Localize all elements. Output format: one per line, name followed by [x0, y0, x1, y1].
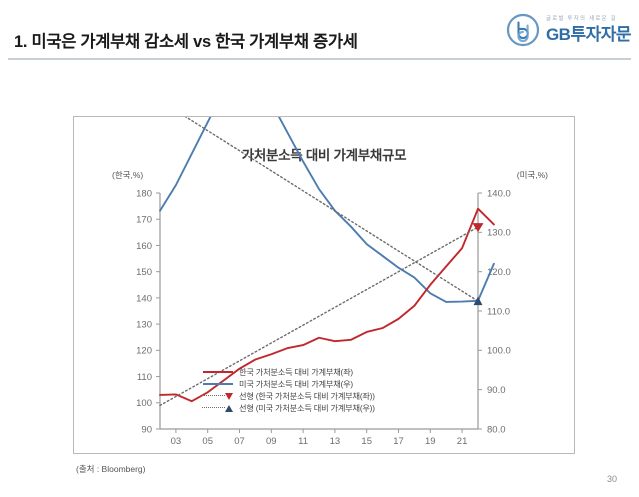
svg-text:110: 110 — [137, 372, 152, 383]
svg-text:100: 100 — [136, 398, 152, 409]
legend-item-korea-trend: 선형 (한국 가처분소득 대비 가계부채(좌)) — [201, 390, 375, 401]
svg-text:150: 150 — [136, 267, 152, 278]
slide-header: 1. 미국은 가계부채 감소세 vs 한국 가계부채 증가세 글로벌 투자의 새… — [0, 0, 639, 62]
gb-circle-logo-icon — [506, 13, 540, 47]
svg-text:15: 15 — [361, 436, 372, 447]
legend-label-korea-trend: 선형 (한국 가처분소득 대비 가계부채(좌)) — [239, 390, 375, 402]
legend-swatch-korea-line — [201, 367, 235, 377]
svg-text:05: 05 — [202, 436, 213, 447]
legend-item-korea: 한국 가처분소득 대비 가계부채(좌) — [201, 366, 375, 377]
svg-text:09: 09 — [266, 436, 277, 447]
legend-item-usa-trend: 선형 (미국 가처분소득 대비 가계부채(우)) — [201, 402, 375, 413]
legend-swatch-usa-line — [201, 379, 235, 389]
svg-text:130.0: 130.0 — [487, 228, 511, 239]
svg-text:110.0: 110.0 — [487, 306, 510, 317]
svg-text:130: 130 — [136, 320, 152, 331]
page-title: 1. 미국은 가계부채 감소세 vs 한국 가계부채 증가세 — [14, 28, 358, 52]
svg-text:13: 13 — [330, 436, 341, 447]
svg-text:19: 19 — [425, 436, 436, 447]
svg-text:160: 160 — [136, 241, 152, 252]
svg-text:80.0: 80.0 — [487, 424, 506, 435]
legend-label-korea: 한국 가처분소득 대비 가계부채(좌) — [239, 366, 353, 378]
svg-text:07: 07 — [234, 436, 245, 447]
svg-text:21: 21 — [457, 436, 468, 447]
svg-text:17: 17 — [393, 436, 404, 447]
svg-text:120: 120 — [136, 346, 152, 357]
source-note: (출처 : Bloomberg) — [76, 463, 146, 475]
svg-text:140: 140 — [136, 293, 152, 304]
svg-text:11: 11 — [298, 436, 308, 447]
svg-text:180: 180 — [136, 188, 152, 199]
svg-text:140.0: 140.0 — [487, 188, 511, 199]
logo-text: 글로벌 투자의 새로운 길 GB투자자문 — [546, 17, 631, 42]
logo-company-name: GB투자자문 — [546, 26, 631, 43]
svg-text:03: 03 — [171, 436, 182, 447]
svg-text:90.0: 90.0 — [487, 385, 506, 396]
legend-item-usa: 미국 가처분소득 대비 가계부채(우) — [201, 378, 375, 389]
svg-text:90: 90 — [141, 424, 152, 435]
svg-text:170: 170 — [136, 215, 152, 226]
legend-label-usa-trend: 선형 (미국 가처분소득 대비 가계부채(우)) — [239, 402, 375, 414]
legend-swatch-usa-trend — [201, 403, 235, 413]
svg-text:100.0: 100.0 — [487, 346, 511, 357]
chart-legend: 한국 가처분소득 대비 가계부채(좌) 미국 가처분소득 대비 가계부채(우) … — [201, 366, 375, 413]
chart-container: 가처분소득 대비 가계부채규모 (한국,%) (미국,%) 9010011012… — [73, 116, 575, 454]
logo-tagline: 글로벌 투자의 새로운 길 — [546, 17, 631, 22]
legend-label-usa: 미국 가처분소득 대비 가계부채(우) — [239, 378, 353, 390]
header-divider — [8, 58, 631, 60]
company-logo: 글로벌 투자의 새로운 길 GB투자자문 — [506, 8, 631, 52]
legend-swatch-korea-trend — [201, 391, 235, 401]
page-number: 30 — [607, 474, 617, 484]
